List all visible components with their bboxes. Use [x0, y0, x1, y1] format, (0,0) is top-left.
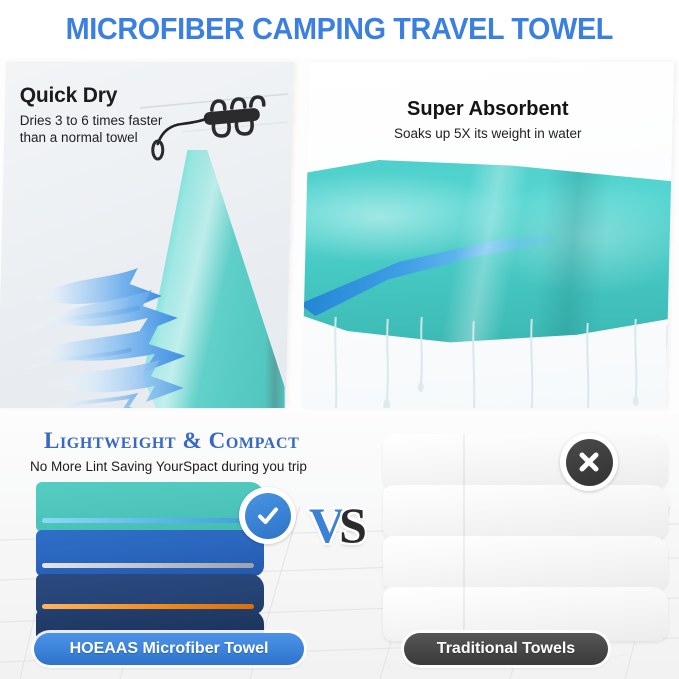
light-blue-trim: [42, 518, 254, 523]
vs-letter-s: S: [339, 497, 367, 553]
super-absorbent-heading: Super Absorbent: [306, 98, 670, 121]
comparison-subtitle: No More Lint Saving YourSpact during you…: [30, 459, 307, 474]
top-panels-row: Quick Dry Dries 3 to 6 times faster than…: [0, 58, 679, 414]
orange-trim: [42, 604, 254, 609]
check-icon: [245, 493, 291, 539]
title-bar: MICROFIBER CAMPING TRAVEL TOWEL: [0, 0, 679, 58]
product-infographic: MICROFIBER CAMPING TRAVEL TOWEL Quick Dr…: [0, 0, 679, 679]
panel-super-absorbent: Super Absorbent Soaks up 5X its weight i…: [302, 62, 674, 408]
airflow-arrows-icon: [12, 262, 222, 408]
traditional-towel-stack: [383, 434, 668, 642]
page-title: MICROFIBER CAMPING TRAVEL TOWEL: [66, 11, 613, 47]
close-icon: [566, 439, 613, 486]
white-towel: [383, 536, 668, 590]
navy-towel: [36, 574, 264, 614]
quick-dry-subtitle-line1: Dries 3 to 6 times faster: [20, 113, 163, 128]
x-badge: [560, 433, 618, 491]
teal-towel: [36, 482, 264, 532]
panel-quick-dry: Quick Dry Dries 3 to 6 times faster than…: [0, 62, 294, 408]
white-towel: [383, 485, 668, 539]
comparison-heading: Lightweight & Compact: [44, 428, 299, 454]
quick-dry-heading: Quick Dry: [20, 84, 117, 108]
vs-badge: VS: [309, 500, 367, 550]
hoeaas-towel-label-text: HOEAAS Microfiber Towel: [70, 640, 269, 658]
quick-dry-subtitle-line2: than a normal towel: [20, 130, 138, 145]
traditional-towel-label-text: Traditional Towels: [437, 640, 575, 658]
white-towel: [383, 434, 668, 488]
royal-blue-towel: [36, 530, 264, 576]
silver-trim: [42, 563, 254, 568]
hoeaas-towel-label: HOEAAS Microfiber Towel: [34, 633, 304, 665]
super-absorbent-subtitle: Soaks up 5X its weight in water: [306, 126, 670, 141]
water-drip-icon: [302, 317, 674, 408]
traditional-towel-label: Traditional Towels: [404, 633, 608, 665]
check-badge: [239, 487, 296, 544]
